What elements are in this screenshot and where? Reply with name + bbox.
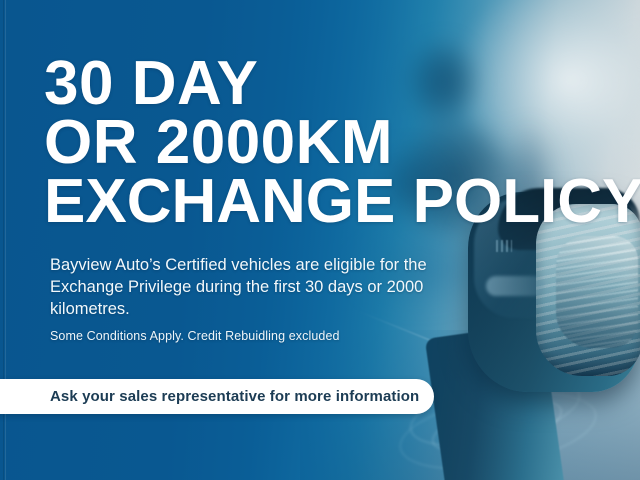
headline-line-2: OR 2000KM [44,112,393,174]
exchange-policy-ad-banner: 30 DAY OR 2000KM EXCHANGE POLICY Bayview… [0,0,640,480]
headline-line-3: EXCHANGE POLICY [44,171,640,233]
headline-line-1: 30 DAY [44,53,258,115]
fine-print-disclaimer: Some Conditions Apply. Credit Rebuidling… [50,329,340,343]
body-paragraph: Bayview Auto’s Certified vehicles are el… [50,254,480,320]
cta-button-label[interactable]: Ask your sales representative for more i… [50,379,410,414]
ad-content: 30 DAY OR 2000KM EXCHANGE POLICY Bayview… [0,0,640,480]
